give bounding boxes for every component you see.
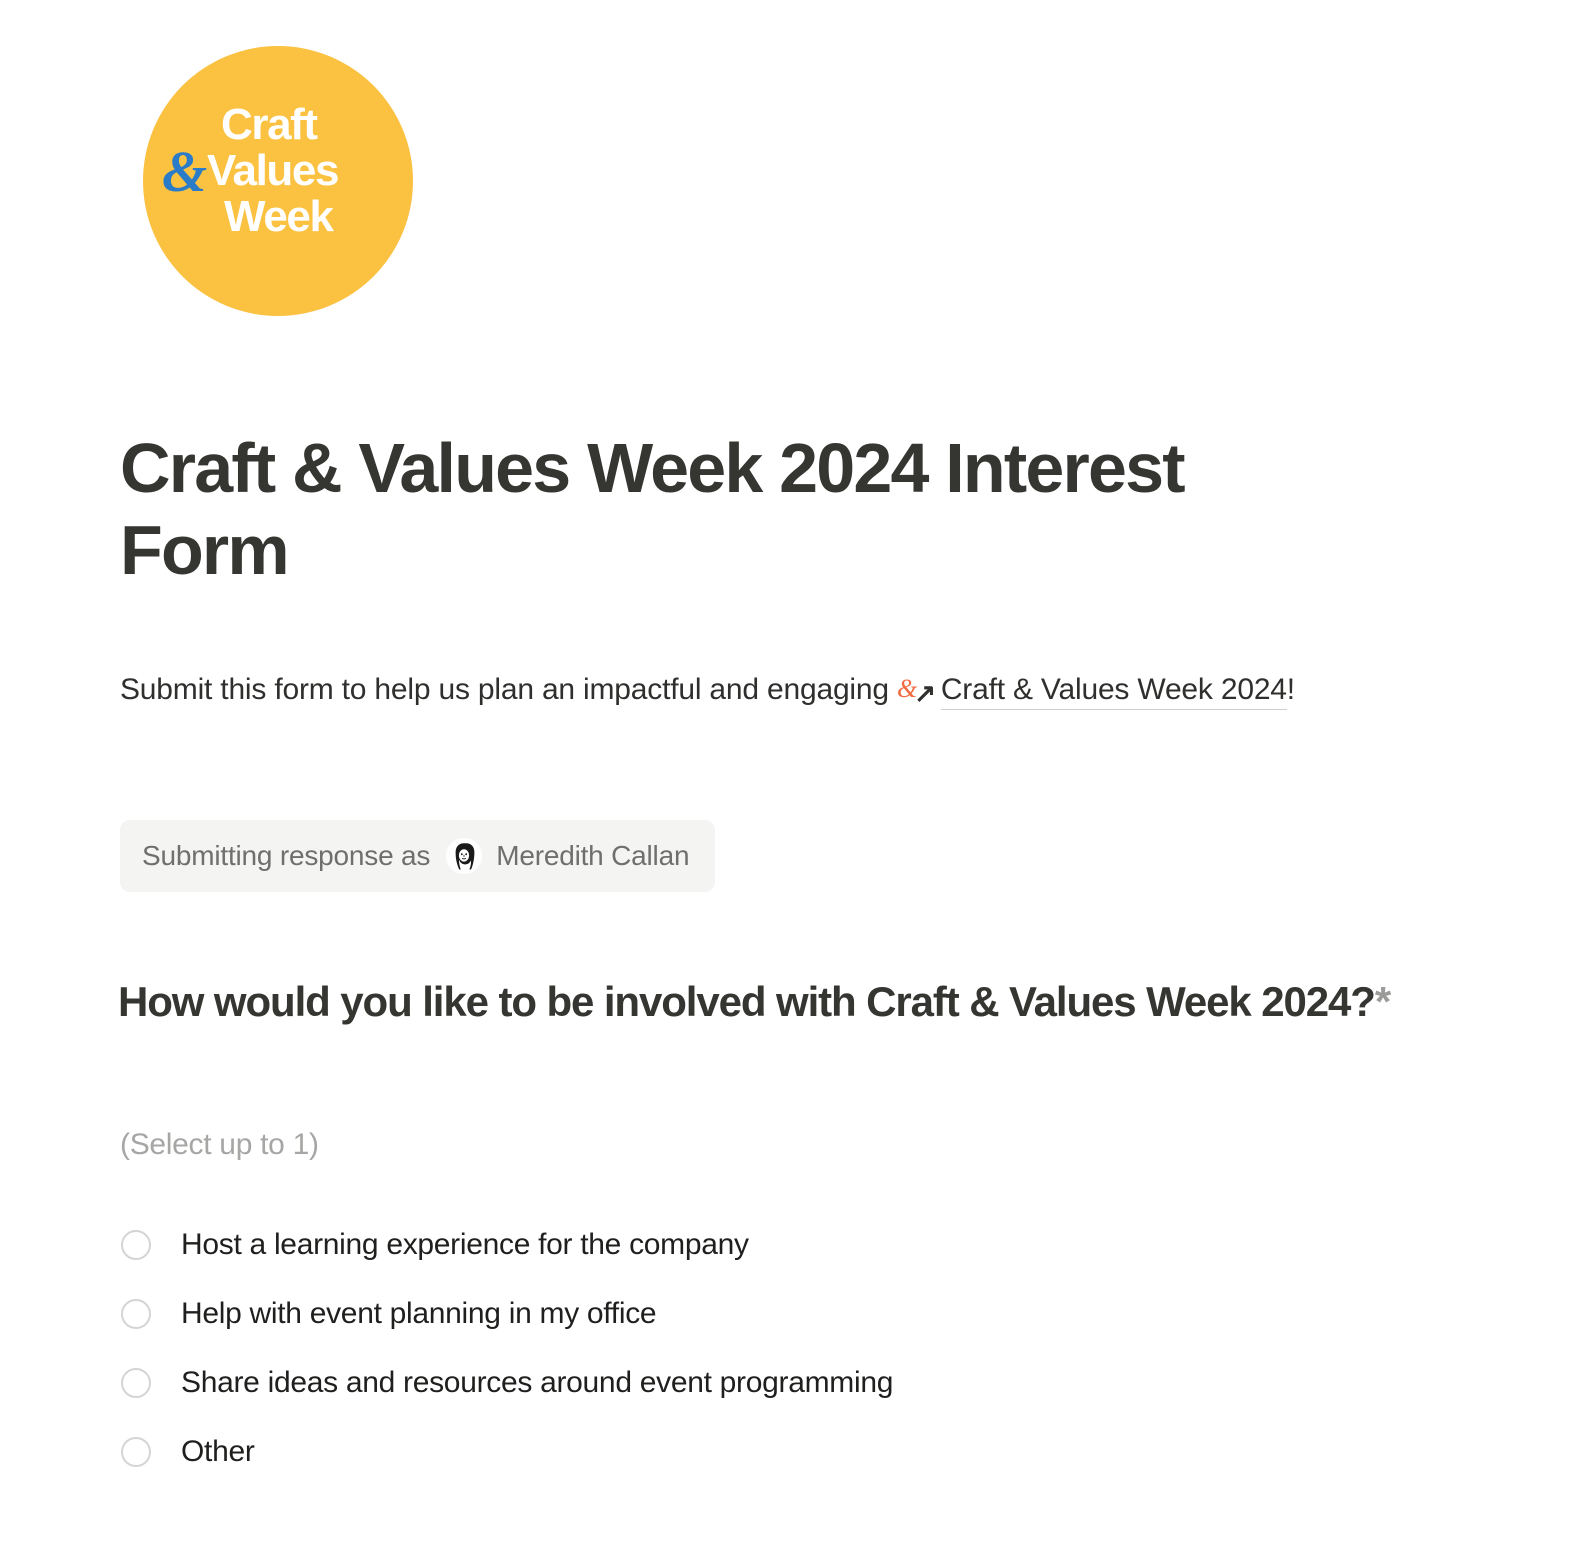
question-options-list: Host a learning experience for the compa… [118,1210,1318,1486]
option-label: Help with event planning in my office [181,1297,656,1331]
radio-button-icon[interactable] [121,1299,151,1329]
option-row[interactable]: Share ideas and resources around event p… [118,1348,1318,1417]
radio-button-icon[interactable] [121,1437,151,1467]
question-title: How would you like to be involved with C… [118,975,1438,1029]
description-suffix-text: ! [1287,673,1295,706]
submitting-response-label: Submitting response as [142,840,430,872]
logo-line-week: Week [224,195,333,239]
form-page: & Craft Values Week Craft & Values Week … [0,0,1586,1548]
logo-line-values: Values [207,149,338,193]
option-label: Host a learning experience for the compa… [181,1228,749,1262]
radio-button-icon[interactable] [121,1230,151,1260]
option-row[interactable]: Host a learning experience for the compa… [118,1210,1318,1279]
option-row[interactable]: Other [118,1417,1318,1486]
submitter-name: Meredith Callan [496,840,689,872]
radio-button-icon[interactable] [121,1368,151,1398]
page-title: Craft & Values Week 2024 Interest Form [120,428,1240,592]
logo-wordmark: & Craft Values Week [143,46,413,316]
logo-line-craft: Craft [221,103,317,147]
form-description: Submit this form to help us plan an impa… [120,662,1380,718]
option-row[interactable]: Help with event planning in my office [118,1279,1318,1348]
submitting-response-as-chip: Submitting response as Meredith Callan [120,820,715,892]
craft-values-week-logo: & Craft Values Week [143,46,413,316]
question-title-text: How would you like to be involved with C… [118,978,1375,1025]
description-link[interactable]: Craft & Values Week 2024 [941,673,1287,710]
logo-ampersand: & [162,143,207,201]
avatar [446,838,482,874]
external-link-arrow-icon: ↗ [914,669,936,718]
required-marker: * [1375,978,1390,1025]
option-label: Share ideas and resources around event p… [181,1366,893,1400]
question-hint: (Select up to 1) [120,1128,319,1162]
logo-circle: & Craft Values Week [143,46,413,316]
option-label: Other [181,1435,255,1469]
description-prefix-text: Submit this form to help us plan an impa… [120,673,897,706]
external-link-ampersand-icon: & [897,674,914,703]
